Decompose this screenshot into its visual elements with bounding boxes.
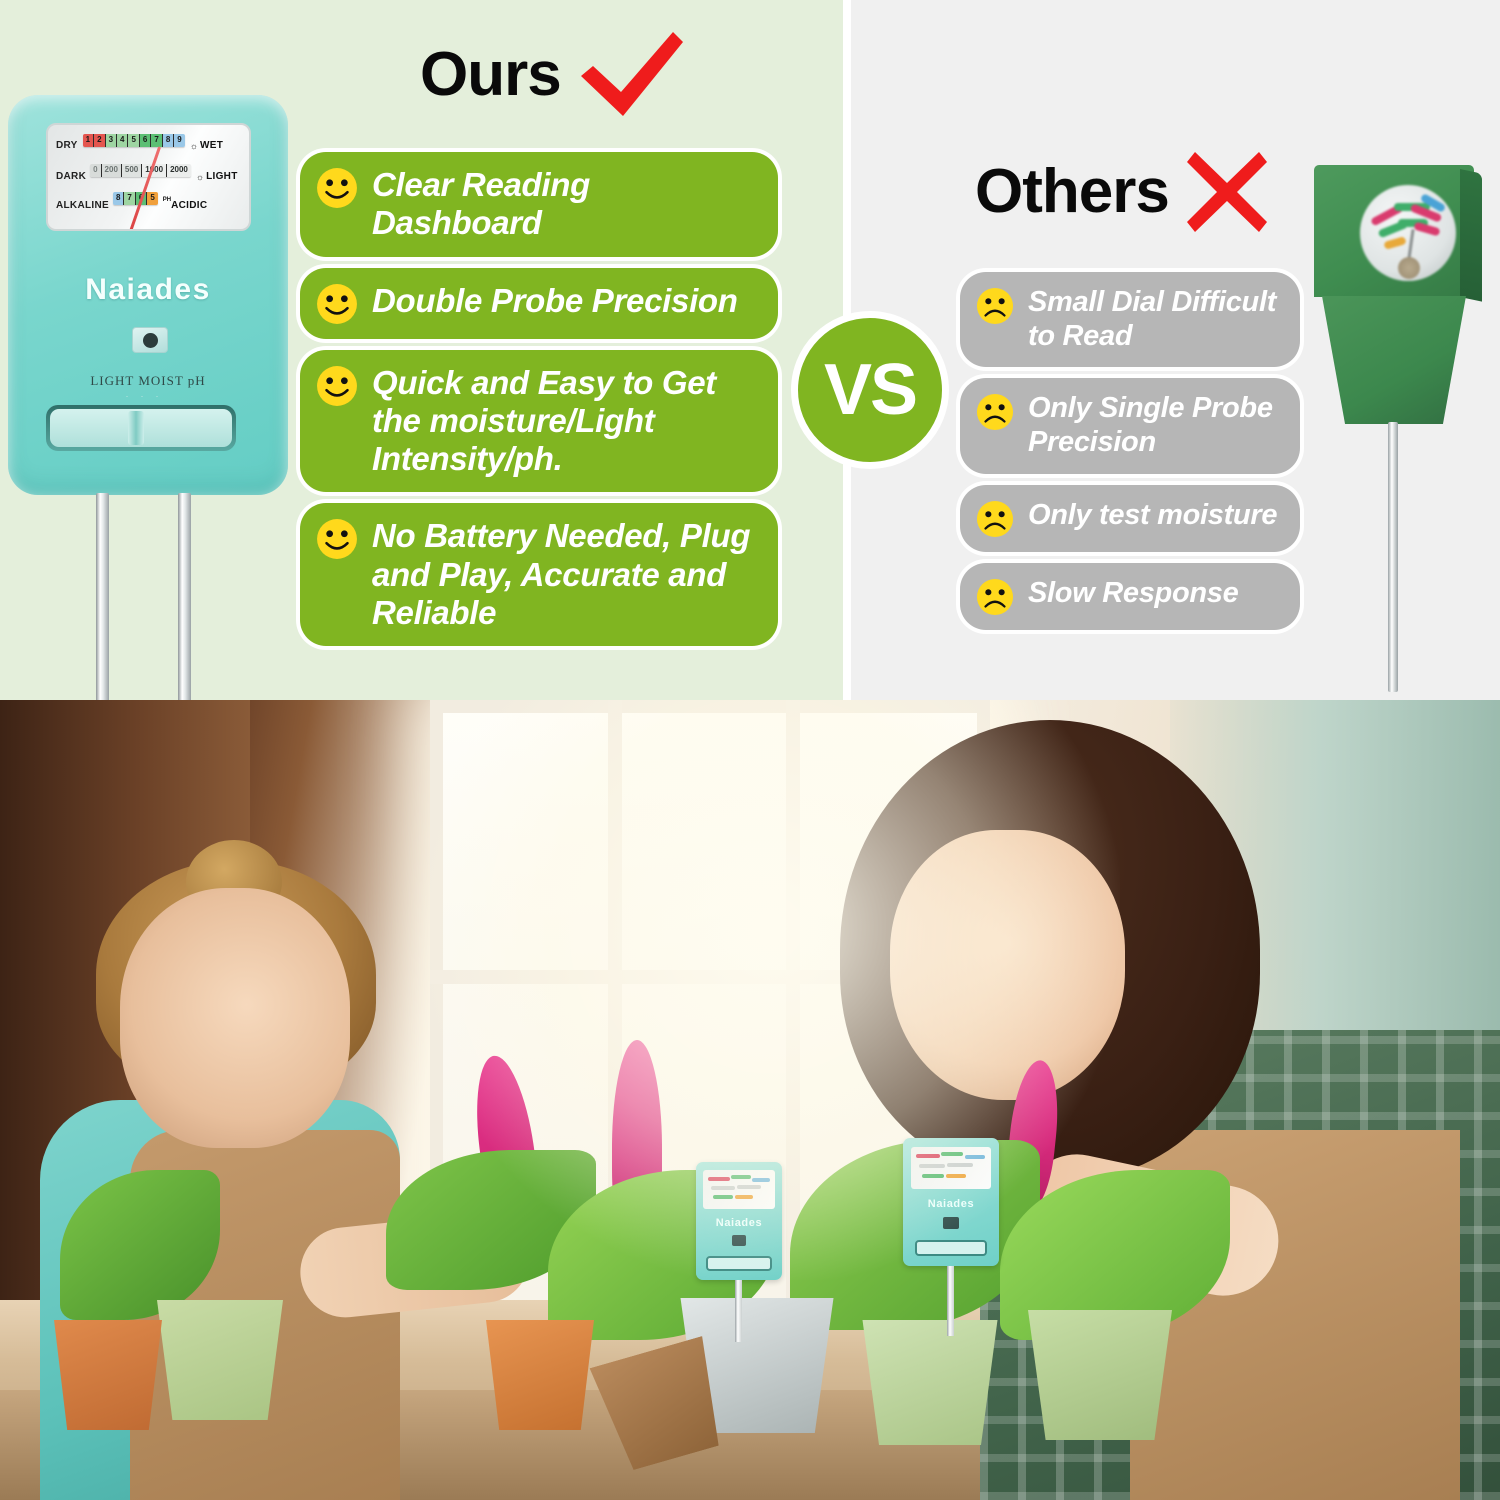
ours-feature-text: Double Probe Precision [372,281,738,320]
ph-segments: 8 7 6 5 [113,192,158,205]
sun-icon: ☼ [196,172,204,182]
mini-meter-sensor [943,1217,958,1229]
moisture-seg-3: 3 [106,134,117,147]
smiley-face-icon [316,365,358,407]
ours-feature-item[interactable]: Quick and Easy to Get the moisture/Light… [300,350,778,493]
competitor-device-base [1322,296,1466,424]
mini-meter-left: Naiades [696,1162,782,1280]
mini-meter-switch [915,1240,988,1255]
device-mode-labels: LIGHT MOIST pH [8,373,288,389]
check-mark-icon [577,30,687,120]
mini-meter-right: Naiades [903,1138,999,1266]
light-left-label: DARK [56,171,86,182]
device-body: DRY 1 2 3 4 5 6 7 8 9 ☼ [8,95,288,495]
our-soil-meter-device: DRY 1 2 3 4 5 6 7 8 9 ☼ [8,95,288,695]
comparison-section: DRY 1 2 3 4 5 6 7 8 9 ☼ [0,0,1500,700]
moisture-scale-row: DRY 1 2 3 4 5 6 7 8 9 ☼ [56,139,223,152]
sad-face-icon [976,393,1014,431]
ours-header: Ours [420,30,687,120]
smiley-face-icon [316,283,358,325]
moisture-left-label: DRY [56,140,78,151]
girl-face [120,888,350,1148]
product-comparison-infographic: DRY 1 2 3 4 5 6 7 8 9 ☼ [0,0,1500,1500]
smiley-face-icon [316,518,358,560]
moisture-seg-6: 6 [140,134,151,147]
competitor-small-dial [1360,185,1456,281]
others-feature-list: Small Dial Difficult to Read Only Single… [960,272,1300,630]
moisture-seg-2: 2 [94,134,105,147]
mini-meter-switch [706,1256,771,1270]
others-feature-text: Only test moisture [1028,498,1277,533]
others-feature-item[interactable]: Small Dial Difficult to Read [960,272,1300,367]
ours-feature-text: Quick and Easy to Get the moisture/Light… [372,363,760,479]
mode-selector-switch[interactable] [46,405,236,451]
ours-feature-item[interactable]: No Battery Needed, Plug and Play, Accura… [300,503,778,646]
light-sensor [132,327,168,353]
light-right-label: LIGHT [206,171,238,182]
woman-face [890,830,1125,1100]
switch-knob[interactable] [128,411,144,445]
mini-meter-sensor [732,1235,746,1246]
others-feature-text: Only Single Probe Precision [1028,391,1282,459]
mini-meter-dial [911,1147,992,1189]
light-seg-0: 0 [90,164,101,177]
ours-feature-list: Clear Reading Dashboard Double Probe Pre… [300,152,778,646]
others-header: Others [975,150,1269,234]
device-brand-name: Naiades [8,273,288,307]
ours-title: Ours [420,44,561,106]
dial-needle [124,146,161,231]
sad-face-icon [976,287,1014,325]
sad-face-icon [976,578,1014,616]
competitor-soil-meter-device [1300,165,1500,695]
ph-seg-7: 7 [124,192,135,205]
device-dial-window: DRY 1 2 3 4 5 6 7 8 9 ☼ [46,123,251,231]
plant-pot [48,1320,168,1430]
competitor-probe-single [1388,422,1398,692]
moisture-seg-7: 7 [151,134,162,147]
others-title: Others [975,161,1169,223]
device-mode-dots: ··· [8,391,288,401]
others-feature-item[interactable]: Slow Response [960,563,1300,630]
versus-badge: VS [791,311,949,469]
light-seg-200: 200 [102,164,122,177]
ph-seg-5: 5 [147,192,157,205]
moisture-right-label: WET [200,140,223,151]
moisture-seg-9: 9 [174,134,184,147]
mini-meter-left-probe [735,1280,742,1342]
light-seg-2000: 2000 [167,164,191,177]
ph-superscript: PH [163,197,171,203]
ours-feature-text: No Battery Needed, Plug and Play, Accura… [372,516,760,632]
sensor-dot-icon [143,333,158,348]
plant-pot [1020,1310,1180,1440]
light-seg-1000: 1000 [142,164,167,177]
moisture-seg-5: 5 [128,134,139,147]
others-feature-item[interactable]: Only test moisture [960,485,1300,552]
others-feature-item[interactable]: Only Single Probe Precision [960,378,1300,473]
x-mark-icon [1185,150,1269,234]
light-segments: 0 200 500 1000 2000 [90,164,191,177]
ph-right-label: ACIDIC [171,200,207,211]
sun-icon: ☼ [190,141,198,151]
ours-feature-item[interactable]: Double Probe Precision [300,268,778,339]
ph-seg-8: 8 [113,192,124,205]
mini-meter-right-probe [947,1266,954,1336]
competitor-device-head [1314,165,1474,297]
light-seg-500: 500 [122,164,142,177]
moisture-seg-8: 8 [163,134,174,147]
plant-pot [150,1300,290,1420]
mini-meter-brand: Naiades [903,1198,999,1210]
sad-face-icon [976,500,1014,538]
competitor-device-side [1460,169,1482,302]
plant-pot [855,1320,1005,1445]
mini-meter-dial [703,1170,775,1209]
others-feature-text: Slow Response [1028,576,1238,611]
moisture-segments: 1 2 3 4 5 6 7 8 9 [83,134,185,147]
ph-left-label: ALKALINE [56,200,109,211]
plant-pot [480,1320,600,1430]
moisture-seg-4: 4 [117,134,128,147]
ours-feature-text: Clear Reading Dashboard [372,165,760,243]
ph-scale-row: ALKALINE 8 7 6 5 PH ACIDIC [56,199,207,212]
mini-meter-brand: Naiades [696,1217,782,1229]
others-feature-text: Small Dial Difficult to Read [1028,285,1282,353]
ours-feature-item[interactable]: Clear Reading Dashboard [300,152,778,257]
smiley-face-icon [316,167,358,209]
lifestyle-photo: Naiades Naiades [0,700,1500,1500]
switch-track [50,409,232,447]
competitor-dial-hub [1398,257,1420,279]
moisture-seg-1: 1 [83,134,94,147]
